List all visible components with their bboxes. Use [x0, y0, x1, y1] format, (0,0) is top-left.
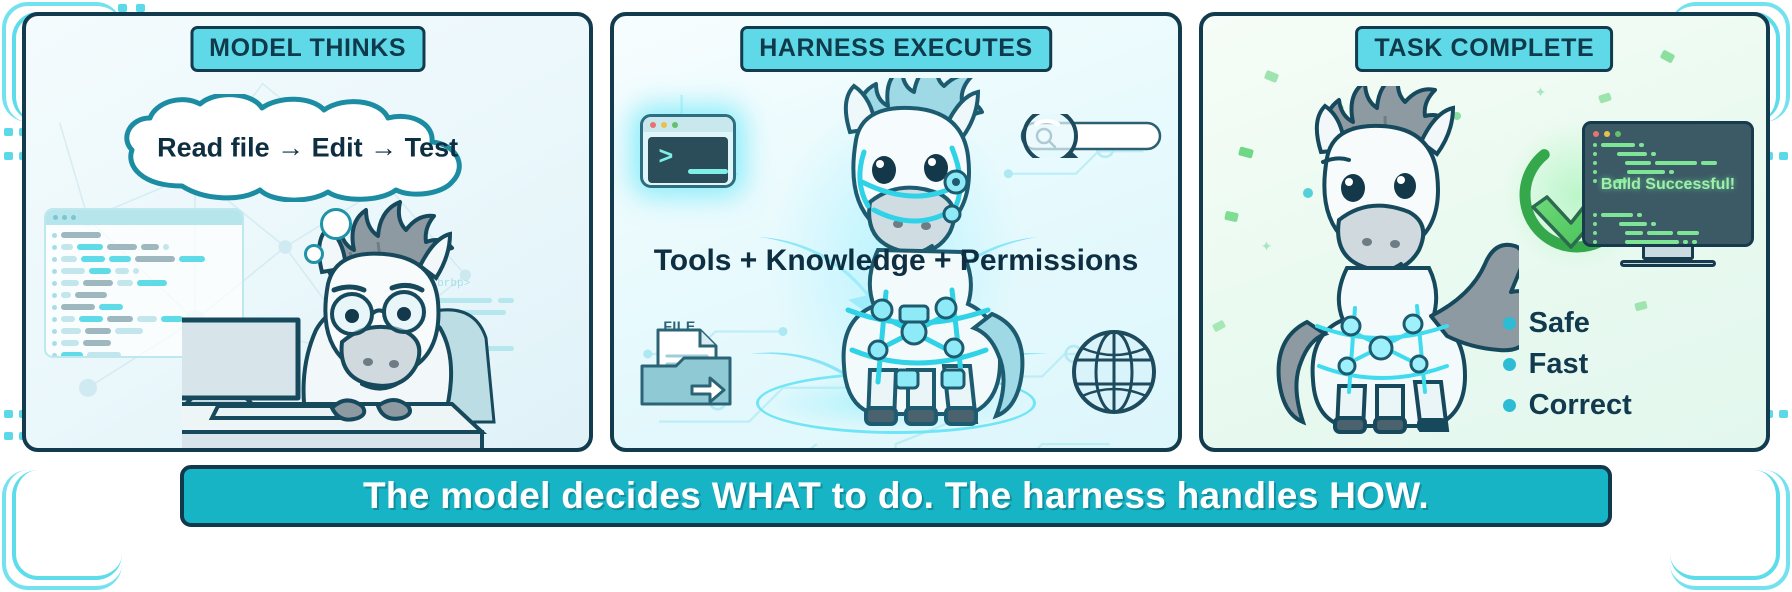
panel-model-thinks: MODEL THINKS: [22, 12, 593, 452]
confetti-piece: [1634, 301, 1648, 312]
horse-at-desk-illustration: [182, 192, 542, 452]
benefits-list: Safe Fast Correct: [1503, 307, 1632, 430]
bullet-dot-icon: [1503, 399, 1516, 412]
frame-corner-bottom-left-inner: [12, 470, 122, 580]
monitor-base: [1620, 260, 1716, 267]
window-maximize-dot-icon: [672, 122, 678, 128]
list-item: Correct: [1503, 389, 1632, 422]
monitor-stand: [1642, 247, 1694, 260]
confetti-piece: [1263, 70, 1278, 83]
frame-corner-bottom-right-inner: [1670, 470, 1780, 580]
file-icon-label: FILE: [663, 318, 695, 334]
panel-title-harness-executes: HARNESS EXECUTES: [740, 26, 1052, 72]
panel-title-model-thinks: MODEL THINKS: [190, 26, 425, 72]
frame-dash-left-a: [4, 152, 13, 160]
summary-banner: The model decides WHAT to do. The harnes…: [180, 465, 1612, 527]
infographic-stage: MODEL THINKS: [0, 0, 1792, 592]
build-monitor: Build Successful!: [1582, 121, 1754, 267]
window-close-dot-icon: [1593, 131, 1599, 137]
list-item: Safe: [1503, 307, 1632, 340]
benefit-label: Safe: [1529, 307, 1590, 340]
panel-harness-executes: HARNESS EXECUTES: [610, 12, 1181, 452]
window-minimize-dot-icon: [1604, 131, 1610, 137]
confetti-piece: [1238, 146, 1254, 158]
frame-dash-left-e: [4, 410, 13, 418]
console-line: [1593, 161, 1743, 165]
terminal-icon[interactable]: >: [640, 114, 736, 188]
window-maximize-dot-icon: [1615, 131, 1621, 137]
console-line: [1593, 152, 1743, 156]
bullet-dot-icon: [1503, 358, 1516, 371]
window-minimize-dot-icon: [661, 122, 667, 128]
summary-banner-text: The model decides WHAT to do. The harnes…: [363, 475, 1429, 517]
globe-icon[interactable]: [1068, 326, 1160, 418]
console-line: [1593, 143, 1743, 147]
list-item: Fast: [1503, 348, 1632, 381]
frame-dash-left-c: [4, 128, 13, 136]
confetti-piece: [1224, 211, 1239, 223]
harness-caption: Tools + Knowledge + Permissions: [614, 244, 1177, 278]
confetti-piece: [1598, 92, 1612, 103]
panel-title-task-complete: TASK COMPLETE: [1355, 26, 1613, 72]
file-share-icon[interactable]: FILE: [636, 304, 744, 412]
console-line: [1593, 240, 1743, 244]
confetti-piece: [1659, 49, 1675, 63]
frame-dash-left-g: [4, 432, 13, 440]
thought-bubble-large: [320, 208, 352, 240]
build-status-text: Build Successful!: [1585, 176, 1751, 194]
window-dot-icon: [71, 215, 76, 220]
sparkle-icon: ✦: [1535, 84, 1547, 101]
frame-dash-top-b: [136, 4, 145, 12]
terminal-cursor-icon: [688, 169, 728, 174]
window-dot-icon: [62, 215, 67, 220]
terminal-prompt-icon: >: [658, 145, 673, 170]
console-line: [1593, 170, 1743, 174]
frame-dash-right-a: [1779, 152, 1788, 160]
frame-dash-right-c: [1779, 410, 1788, 418]
console-line: [1593, 231, 1743, 235]
panel-task-complete: TASK COMPLETE ✦ ✦ ✦: [1199, 12, 1770, 452]
frame-dash-top-a: [118, 4, 127, 12]
thought-bubble-small: [304, 244, 324, 264]
bullet-dot-icon: [1503, 317, 1516, 330]
monitor-titlebar: [1593, 131, 1743, 137]
console-line: [1593, 222, 1743, 226]
celebrating-horse-illustration: [1269, 86, 1519, 434]
monitor-screen: Build Successful!: [1582, 121, 1754, 247]
terminal-screen: >: [648, 137, 728, 183]
benefit-label: Correct: [1529, 389, 1632, 422]
window-close-dot-icon: [650, 122, 656, 128]
console-line: [1593, 213, 1743, 217]
window-dot-icon: [53, 215, 58, 220]
search-icon[interactable]: [1014, 114, 1164, 158]
panel-row: MODEL THINKS: [22, 12, 1770, 452]
benefit-label: Fast: [1529, 348, 1589, 381]
thought-text: Read file → Edit → Test: [26, 133, 589, 164]
terminal-titlebar: [643, 117, 733, 132]
confetti-piece: [1211, 320, 1225, 333]
